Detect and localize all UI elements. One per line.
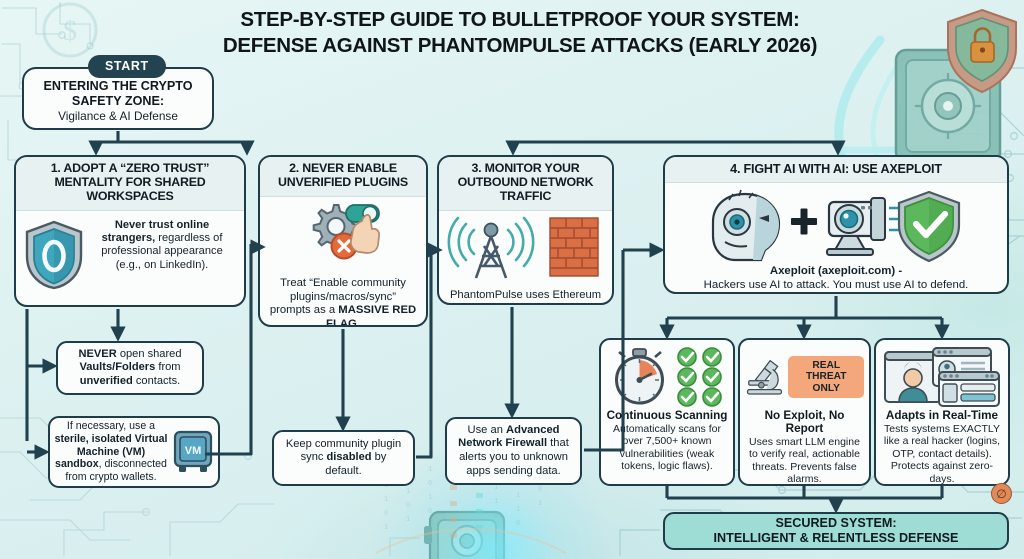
svg-text:1: 1 xyxy=(428,522,432,530)
title-line-2: DEFENSE AGAINST PHANTOMPULSE ATTACKS (EA… xyxy=(150,33,890,59)
step-1-subcard-1-text: NEVER open shared Vaults/Folders from un… xyxy=(66,348,194,389)
step-1-subcard-2: If necessary, use a sterile, isolated Vi… xyxy=(48,416,220,488)
svg-text:0: 0 xyxy=(406,502,410,510)
step-card-1: 1. ADOPT A “ZERO TRUST” MENTALITY FOR SH… xyxy=(14,155,246,307)
svg-text:0: 0 xyxy=(428,508,432,516)
feature-1-body: Automatically scans for over 7,500+ know… xyxy=(606,423,728,473)
footer-line-1: SECURED SYSTEM: xyxy=(775,516,896,531)
vm-safe-icon: VM xyxy=(172,429,214,475)
feature-3-title: Adapts in Real-Time xyxy=(881,409,1003,422)
svg-text:0: 0 xyxy=(538,486,542,494)
svg-text:$: $ xyxy=(63,16,77,47)
svg-text:1: 1 xyxy=(538,500,542,508)
step-3-subcard-1-text: Use an Advanced Network Firewall that al… xyxy=(455,424,572,479)
page-title: STEP-BY-STEP GUIDE TO BULLETPROOF YOUR S… xyxy=(150,7,890,59)
svg-text:1: 1 xyxy=(406,488,410,496)
svg-text:VM: VM xyxy=(185,445,202,457)
feature-1-title: Continuous Scanning xyxy=(606,409,728,422)
step-1-header: 1. ADOPT A “ZERO TRUST” MENTALITY FOR SH… xyxy=(16,157,244,211)
step-4-header: 4. FIGHT AI WITH AI: USE AXEPLOIT xyxy=(665,157,1007,183)
step-2-subcard-1: Keep community plugin sync disabled by d… xyxy=(272,430,415,486)
safe-vault-icon xyxy=(896,50,1000,170)
feature-3-body: Tests systems EXACTLY like a real hacker… xyxy=(881,423,1003,485)
step-card-3: 3. MONITOR YOUR OUTBOUND NETWORK TRAFFIC xyxy=(437,155,614,305)
step-2-header: 2. NEVER ENABLE UNVERIFIED PLUGINS xyxy=(260,157,426,197)
microscope-icon xyxy=(745,347,786,407)
svg-text:1: 1 xyxy=(516,506,520,514)
step-4-caption: Axeploit (axeploit.com) -Hackers use AI … xyxy=(665,263,1007,294)
svg-text:0: 0 xyxy=(494,512,498,520)
svg-text:1: 1 xyxy=(406,516,410,524)
step-3-subcard-1: Use an Advanced Network Firewall that al… xyxy=(445,417,582,485)
check-grid-icon xyxy=(674,347,726,407)
svg-text:1: 1 xyxy=(428,452,432,460)
svg-text:1: 1 xyxy=(384,496,388,504)
infographic-canvas: $ xyxy=(0,0,1024,559)
feature-2-title: No Exploit, No Report xyxy=(745,409,864,435)
step-1-subcard-2-text: If necessary, use a sterile, isolated Vi… xyxy=(54,420,168,484)
start-heading-line-1: ENTERING THE CRYPTO xyxy=(43,79,192,93)
zero-trust-shield-icon xyxy=(24,219,84,291)
start-heading-line-2: SAFETY ZONE: xyxy=(43,94,192,108)
step-2-subcard-1-text: Keep community plugin sync disabled by d… xyxy=(282,438,405,479)
step-1-body: Never trust online strangers, regardless… xyxy=(88,219,236,272)
title-line-1: STEP-BY-STEP GUIDE TO BULLETPROOF YOUR S… xyxy=(150,7,890,33)
step-card-4: 4. FIGHT AI WITH AI: USE AXEPLOIT xyxy=(663,155,1009,294)
start-badge: START xyxy=(88,55,166,78)
svg-text:1: 1 xyxy=(384,524,388,532)
gear-blocked-toggle-icon xyxy=(304,199,382,269)
browser-windows-user-icon xyxy=(883,346,1001,408)
step-2-body: Treat “Enable community plugins/macros/s… xyxy=(260,271,426,327)
feature-2-body: Uses smart LLM engine to verify real, ac… xyxy=(745,436,864,486)
no-entry-icon: ∅ xyxy=(991,483,1012,504)
step-3-header: 3. MONITOR YOUR OUTBOUND NETWORK TRAFFIC xyxy=(439,157,612,211)
step-3-body: PhantomPulse uses Ethereum blockchain & … xyxy=(439,283,612,305)
svg-text:1: 1 xyxy=(494,498,498,506)
svg-text:1: 1 xyxy=(428,466,432,474)
antenna-firewall-icon xyxy=(446,212,606,282)
feature-card-continuous-scanning: Continuous Scanning Automatically scans … xyxy=(599,338,735,486)
footer-secured-system: SECURED SYSTEM: INTELLIGENT & RELENTLESS… xyxy=(663,512,1009,550)
step-card-2: 2. NEVER ENABLE UNVERIFIED PLUGINS Treat… xyxy=(258,155,428,327)
dollar-coin-icon: $ xyxy=(44,4,96,56)
start-subtitle: Vigilance & AI Defense xyxy=(58,109,178,123)
svg-text:1: 1 xyxy=(494,484,498,492)
step-1-subcard-1: NEVER open shared Vaults/Folders from un… xyxy=(56,341,204,395)
feature-card-adapts-real-time: Adapts in Real-Time Tests systems EXACTL… xyxy=(874,338,1010,486)
svg-text:0: 0 xyxy=(384,510,388,518)
footer-line-2: INTELLIGENT & RELENTLESS DEFENSE xyxy=(714,531,959,546)
lock-shield-icon xyxy=(948,10,1016,92)
svg-text:1: 1 xyxy=(516,492,520,500)
ai-robot-plus-camera-shield-icon xyxy=(711,186,961,262)
stopwatch-checkmarks-icon xyxy=(609,347,671,407)
real-threat-only-badge-text: REAL THREAT ONLY xyxy=(806,360,847,394)
real-threat-only-badge: REAL THREAT ONLY xyxy=(788,356,864,398)
feature-card-no-exploit-no-report: REAL THREAT ONLY No Exploit, No Report U… xyxy=(738,338,871,486)
svg-text:1: 1 xyxy=(428,494,432,502)
svg-text:0: 0 xyxy=(428,480,432,488)
svg-text:0: 0 xyxy=(516,520,520,528)
